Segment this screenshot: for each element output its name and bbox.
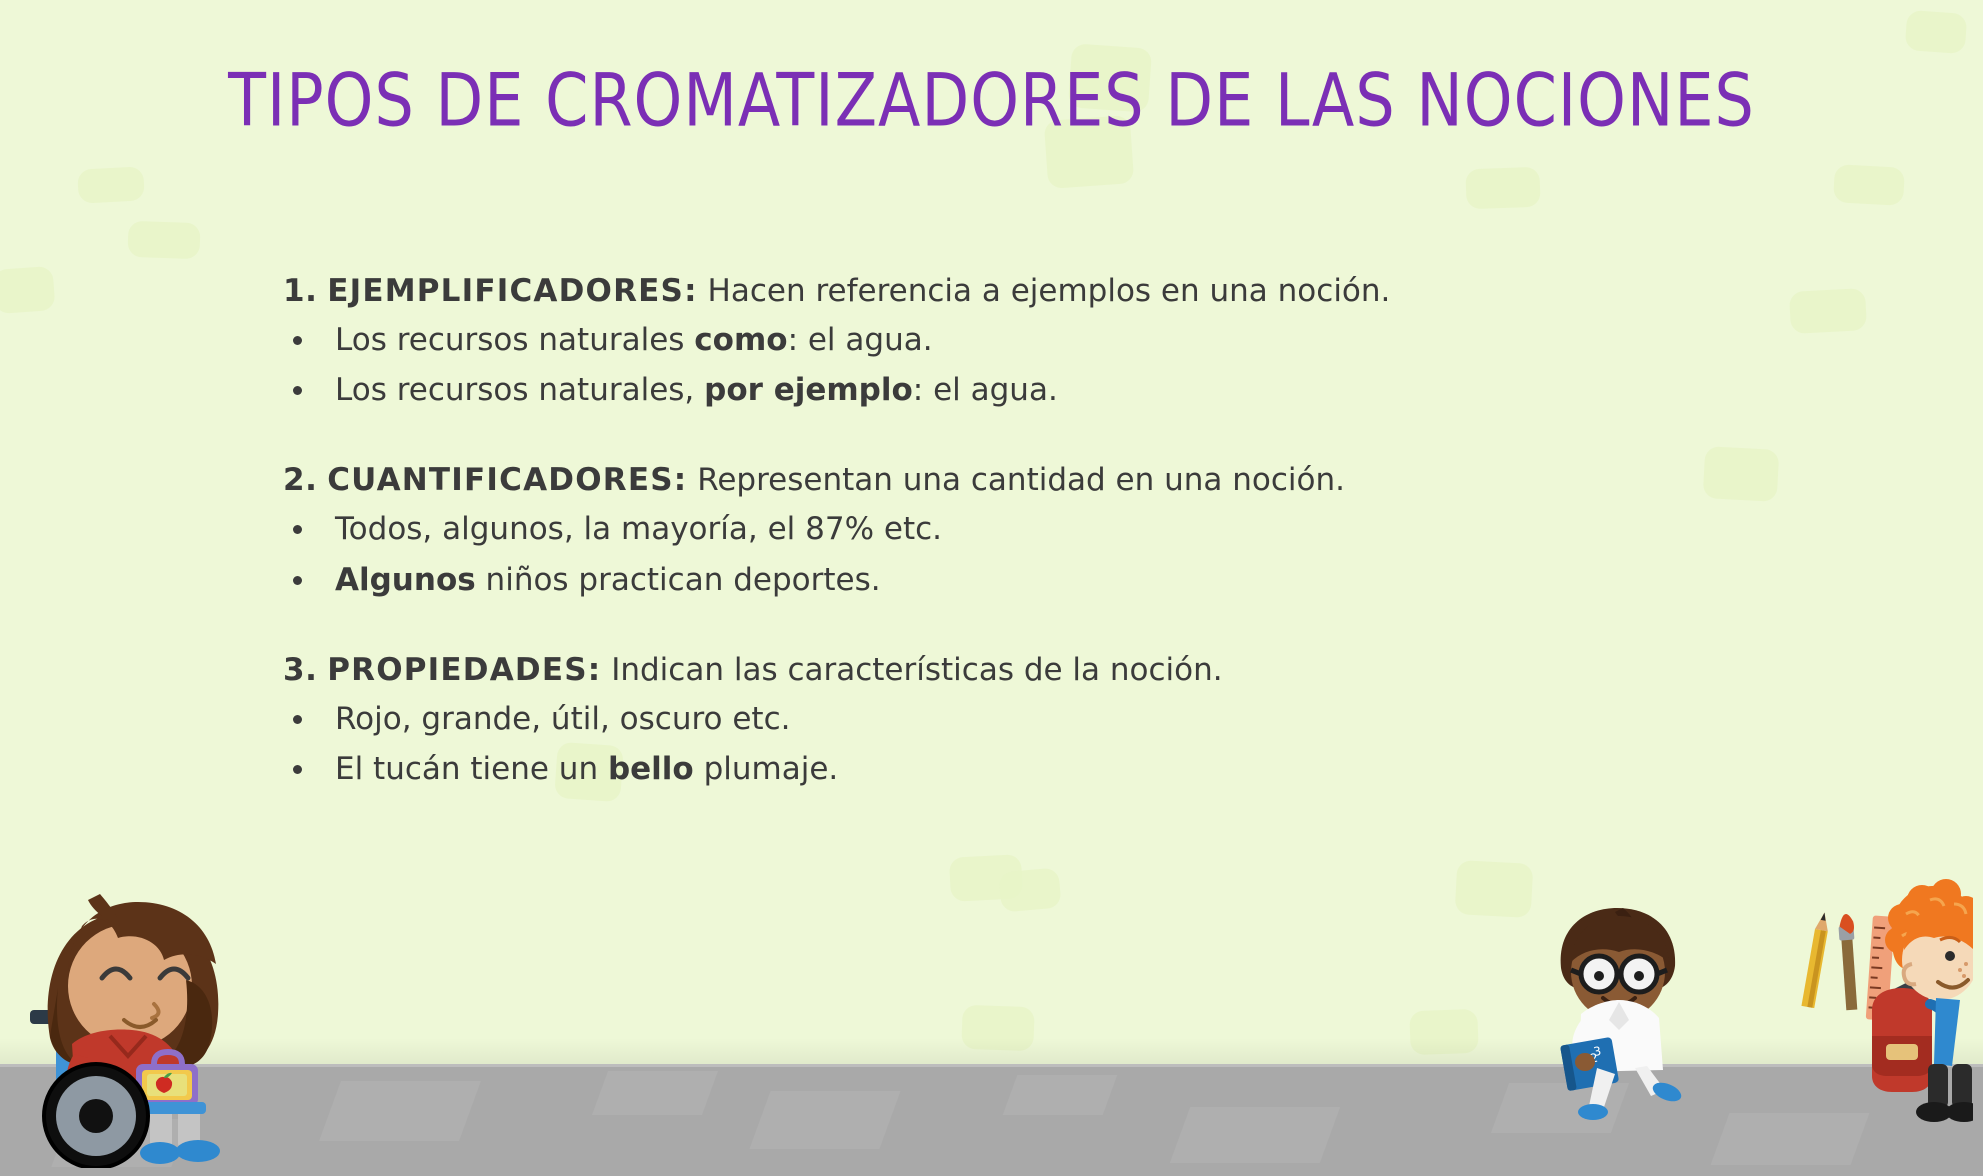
section-number: 2. bbox=[283, 462, 317, 498]
section-number: 3. bbox=[283, 652, 317, 688]
list-item: El tucán tiene un bello plumaje. bbox=[283, 746, 1713, 793]
bullet-text-pre: Todos, algunos, la mayoría, el 87% etc. bbox=[335, 511, 942, 547]
bullet-text-pre: Rojo, grande, útil, oscuro etc. bbox=[335, 701, 790, 737]
watermark-shape bbox=[949, 854, 1023, 902]
section-definition: Representan una cantidad en una noción. bbox=[697, 462, 1345, 498]
section-heading: 1. EJEMPLIFICADORES: Hacen referencia a … bbox=[283, 268, 1713, 315]
watermark-shape bbox=[1905, 10, 1968, 54]
section-number: 1. bbox=[283, 273, 317, 309]
bullet-list: Los recursos naturales como: el agua. Lo… bbox=[283, 317, 1713, 414]
list-item: Los recursos naturales, por ejemplo: el … bbox=[283, 367, 1713, 414]
bullet-dot-icon bbox=[293, 336, 302, 345]
section-term: EJEMPLIFICADORES: bbox=[327, 273, 697, 309]
floor-tile bbox=[1170, 1107, 1340, 1163]
bullet-text-pre: El tucán tiene un bbox=[335, 751, 608, 787]
watermark-shape bbox=[127, 221, 200, 259]
bullet-dot-icon bbox=[293, 715, 302, 724]
section-term: CUANTIFICADORES: bbox=[327, 462, 687, 498]
girl-in-wheelchair-illustration bbox=[14, 868, 274, 1168]
boy-with-book-illustration: 1,2 3 bbox=[1527, 900, 1707, 1120]
watermark-shape bbox=[1833, 164, 1905, 206]
bullet-text-post: plumaje. bbox=[694, 751, 839, 787]
floor-tile bbox=[592, 1071, 718, 1115]
bullet-list: Rojo, grande, útil, oscuro etc. El tucán… bbox=[283, 696, 1713, 793]
list-item: Todos, algunos, la mayoría, el 87% etc. bbox=[283, 506, 1713, 553]
page-title: TIPOS DE CROMATIZADORES DE LAS NOCIONES bbox=[0, 62, 1983, 139]
watermark-shape bbox=[0, 266, 55, 314]
section-ejemplificadores: 1. EJEMPLIFICADORES: Hacen referencia a … bbox=[283, 268, 1713, 414]
watermark-shape bbox=[77, 166, 145, 203]
section-propiedades: 3. PROPIEDADES: Indican las característi… bbox=[283, 647, 1713, 793]
bullet-text-pre: Los recursos naturales, bbox=[335, 372, 704, 408]
list-item: Rojo, grande, útil, oscuro etc. bbox=[283, 696, 1713, 743]
bullet-text-pre: Los recursos naturales bbox=[335, 322, 694, 358]
watermark-shape bbox=[1465, 167, 1540, 210]
watermark-shape bbox=[1703, 446, 1780, 502]
list-item: Algunos niños practican deportes. bbox=[283, 557, 1713, 604]
slide-canvas: TIPOS DE CROMATIZADORES DE LAS NOCIONES … bbox=[0, 0, 1983, 1176]
floor-tile bbox=[319, 1081, 481, 1141]
bullet-text-bold: bello bbox=[608, 751, 694, 787]
bullet-text-bold: como bbox=[694, 322, 787, 358]
section-spacer bbox=[283, 607, 1713, 647]
section-definition: Hacen referencia a ejemplos en una noció… bbox=[708, 273, 1391, 309]
section-heading: 2. CUANTIFICADORES: Representan una cant… bbox=[283, 457, 1713, 504]
section-cuantificadores: 2. CUANTIFICADORES: Representan una cant… bbox=[283, 457, 1713, 603]
bullet-dot-icon bbox=[293, 525, 302, 534]
bullet-dot-icon bbox=[293, 576, 302, 585]
bullet-list: Todos, algunos, la mayoría, el 87% etc. … bbox=[283, 506, 1713, 603]
floor-tile bbox=[749, 1091, 900, 1149]
bullet-text-post: niños practican deportes. bbox=[476, 562, 881, 598]
bullet-dot-icon bbox=[293, 386, 302, 395]
list-item: Los recursos naturales como: el agua. bbox=[283, 317, 1713, 364]
watermark-shape bbox=[998, 867, 1061, 912]
section-heading: 3. PROPIEDADES: Indican las característi… bbox=[283, 647, 1713, 694]
bullet-text-bold: por ejemplo bbox=[704, 372, 913, 408]
child-with-backpack-illustration bbox=[1788, 878, 1973, 1128]
bullet-text-bold: Algunos bbox=[335, 562, 476, 598]
watermark-shape bbox=[1789, 288, 1867, 334]
section-term: PROPIEDADES: bbox=[327, 652, 601, 688]
floor-tile bbox=[1003, 1075, 1118, 1115]
section-spacer bbox=[283, 417, 1713, 457]
watermark-shape bbox=[1455, 860, 1534, 918]
section-definition: Indican las características de la noción… bbox=[611, 652, 1222, 688]
slide-body: 1. EJEMPLIFICADORES: Hacen referencia a … bbox=[283, 268, 1713, 796]
bullet-text-post: : el agua. bbox=[788, 322, 933, 358]
bullet-dot-icon bbox=[293, 765, 302, 774]
bullet-text-post: : el agua. bbox=[913, 372, 1058, 408]
